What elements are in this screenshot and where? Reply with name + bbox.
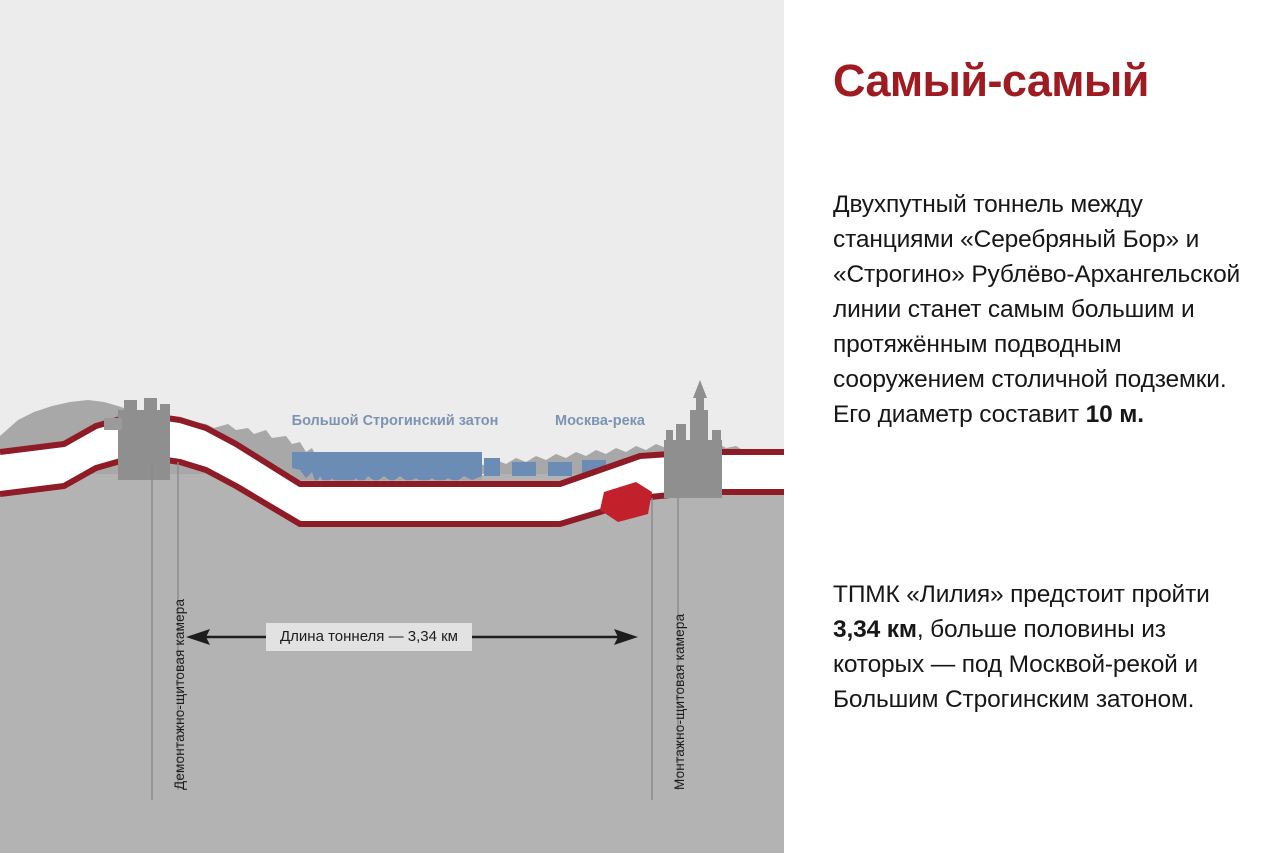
text-panel: Самый-самый Двухпутный тоннель между ста… (784, 0, 1280, 853)
paragraph-1: Двухпутный тоннель между станциями «Сере… (833, 187, 1263, 432)
water-label-moskva-river: Москва-река (520, 412, 680, 432)
paragraph-2-highlight: 3,34 км (833, 616, 917, 643)
water-label-zaton: Большой Строгинский затон (290, 412, 500, 432)
diagram-panel: Проходка двухпутного тоннеля между станц… (0, 0, 784, 853)
paragraph-1-text: Двухпутный тоннель между станциями «Сере… (833, 191, 1240, 428)
paragraph-1-highlight: 10 м. (1086, 401, 1144, 428)
shaft-label-montage: Монтажно-щитовая камера (672, 614, 687, 790)
infographic-page: Проходка двухпутного тоннеля между станц… (0, 0, 1280, 853)
tunnel-length-label: Длина тоннеля — 3,34 км (266, 623, 472, 651)
shaft-label-demontage: Демонтажно-щитовая камера (172, 599, 187, 790)
paragraph-2: ТПМК «Лилия» предстоит пройти 3,34 км, б… (833, 577, 1263, 717)
water-zaton (292, 452, 482, 480)
headline: Самый-самый (833, 55, 1149, 107)
paragraph-2-text-before: ТПМК «Лилия» предстоит пройти (833, 581, 1210, 608)
